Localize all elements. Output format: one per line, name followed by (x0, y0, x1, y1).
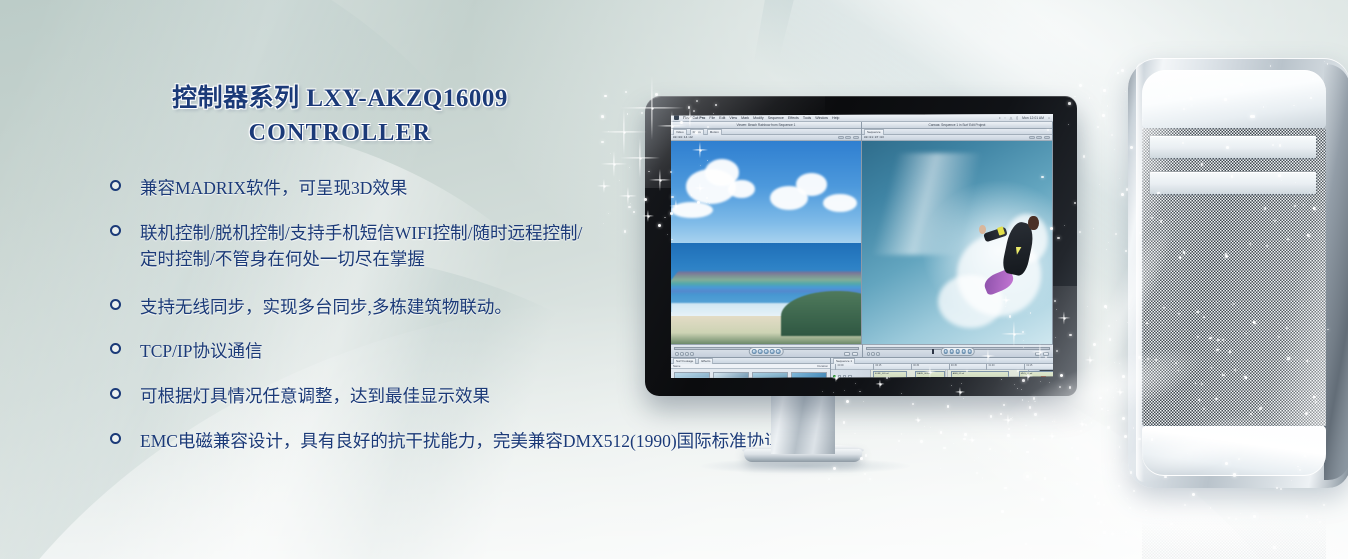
viewer-right-timecode[interactable]: 00:01:07:03 (864, 136, 884, 139)
transport-left-right-buttons[interactable] (844, 352, 858, 356)
tab-surf-footage[interactable]: Surf Footage (673, 358, 696, 364)
ruler-label: 01:00 (989, 364, 995, 367)
play-in-to-out-button[interactable] (758, 349, 763, 354)
optical-drive-slot-1[interactable] (1150, 136, 1316, 158)
tab-video[interactable]: Video (673, 129, 687, 135)
monitor-stand-neck (771, 392, 835, 454)
tab-motion[interactable]: Motion (707, 129, 722, 135)
ruler-label: 00:45 (951, 364, 957, 367)
in-point-button[interactable] (871, 352, 875, 356)
cloud (823, 194, 857, 212)
view-mode-button[interactable] (1043, 352, 1049, 356)
viewer-right-zoom-popup[interactable] (1029, 136, 1035, 139)
wifi-icon[interactable]: △ (1010, 116, 1013, 120)
viewer-right-view-popup[interactable] (1036, 136, 1042, 139)
play-in-to-out-button[interactable] (949, 349, 954, 354)
transport-bar-left[interactable] (671, 344, 862, 357)
menu-item-mark[interactable]: Mark (741, 115, 749, 119)
play-button[interactable] (955, 349, 960, 354)
menu-item-edit[interactable]: Edit (719, 115, 725, 119)
tab-filters[interactable]: Filters (690, 129, 704, 135)
column-duration: Duration (817, 364, 828, 368)
tower-bottom-panel (1142, 426, 1326, 476)
play-around-button[interactable] (770, 349, 775, 354)
ruler-label: 00:30 (913, 364, 919, 367)
menu-item-sequence[interactable]: Sequence (768, 115, 784, 119)
menu-item-modify[interactable]: Modify (753, 115, 764, 119)
timeline-playhead[interactable] (946, 370, 947, 378)
ruler-tick (835, 364, 836, 370)
generators-button[interactable] (852, 352, 858, 356)
viewer-left-timecode[interactable]: 00:00:14:22 (673, 136, 693, 139)
browser-thumbnail-grid[interactable]: SURF_001.mov00:12SURF_002.mov00:18WAVE_0… (671, 369, 830, 378)
beach-rainbow-clip (671, 141, 861, 344)
browser-clip-thumbnail[interactable]: SURF_001.mov00:12 (674, 372, 710, 378)
surfer-head (1028, 216, 1038, 231)
viewer-right-duration[interactable] (1044, 136, 1050, 139)
tower-reflection-mesh (1142, 506, 1326, 559)
playhead-marker[interactable] (932, 349, 934, 354)
ruler-label: 00:00 (838, 364, 844, 367)
bullet-ring-icon (110, 225, 121, 236)
page-title-en: CONTROLLER (0, 117, 680, 150)
browser-panel: Surf Footage Effects Name Duration SURF_… (671, 358, 831, 378)
banner-stage: 控制器系列 LXY-AKZQ16009 CONTROLLER 兼容MADRIX软… (0, 0, 1348, 559)
timeline-clip-name: SURF_001.aif (874, 372, 906, 376)
next-edit-button[interactable] (967, 349, 972, 354)
edit-overlay-button[interactable] (1035, 352, 1041, 356)
track-header-v2[interactable] (831, 370, 870, 378)
page-title-cn: 控制器系列 LXY-AKZQ16009 (0, 82, 680, 117)
tab-sequence[interactable]: Sequence (864, 129, 884, 135)
cloud (728, 180, 755, 198)
viewer-left-video[interactable] (671, 141, 861, 344)
browser-clip-thumbnail[interactable]: SURF_002.mov00:18 (713, 372, 749, 378)
viewer-left-title: Viewer: Beach Rainbow from Sequence 1 (737, 123, 796, 127)
column-name: Name (673, 364, 680, 368)
timeline-clip-name: AMB_02.aif (952, 372, 1008, 376)
bullet-ring-icon (110, 388, 121, 399)
surfer-hand (979, 225, 985, 234)
mac-pro-tower (1128, 58, 1348, 488)
menu-item-tools[interactable]: Tools (803, 115, 811, 119)
menu-item-view[interactable]: View (729, 115, 737, 119)
tower-top-panel (1142, 70, 1326, 128)
previous-edit-button[interactable] (943, 349, 948, 354)
clip-thumbnail-image (674, 372, 710, 378)
transport-right-right-buttons[interactable] (1035, 352, 1049, 356)
clip-thumbnail-image (713, 372, 749, 378)
menu-item-file[interactable]: File (709, 115, 715, 119)
bullet-ring-icon (110, 180, 121, 191)
in-point-button[interactable] (680, 352, 684, 356)
surfer-wave-clip (862, 141, 1052, 344)
bullet-ring-icon (110, 343, 121, 354)
menubar-clock[interactable]: Mon 12:01 AM (1022, 116, 1044, 120)
clip-thumbnail-image (752, 372, 788, 378)
play-around-button[interactable] (961, 349, 966, 354)
out-point-button[interactable] (685, 352, 689, 356)
viewer-right-title: Canvas: Sequence 1 in Surf Edit Project (929, 123, 986, 127)
bluetooth-icon[interactable]: • (999, 116, 1000, 120)
clip-thumbnail-image (791, 372, 827, 378)
transport-left-controls[interactable] (749, 347, 784, 355)
tower-side-face (1324, 64, 1348, 480)
lower-panes: Surf Footage Effects Name Duration SURF_… (671, 357, 1053, 378)
timeline-clip-name: MUS_01.aif (1020, 372, 1053, 376)
transport-bar-right[interactable] (863, 344, 1054, 357)
transport-left-small-buttons[interactable] (675, 352, 694, 356)
monitor-screen: Final Cut Pro File Edit View Mark Modify… (671, 114, 1053, 378)
tower-reflection (1128, 488, 1348, 559)
browser-clip-thumbnail[interactable]: BEACH_004.mov00:24 (791, 372, 827, 378)
transport-right-controls[interactable] (940, 347, 975, 355)
timeline-clip-name: WAVE_003.aif (916, 372, 944, 376)
viewer-right-titlebar[interactable]: Canvas: Sequence 1 in Surf Edit Project (862, 122, 1052, 129)
previous-edit-button[interactable] (752, 349, 757, 354)
spotlight-icon[interactable]: ○ (1048, 116, 1050, 120)
timeline-panel: Sequence 1 00:0000:1500:3000:4501:0001:1… (831, 358, 1053, 378)
marker-button[interactable] (867, 352, 871, 356)
viewer-row: Viewer: Beach Rainbow from Sequence 1 Vi… (671, 122, 1053, 344)
menu-item-window[interactable]: Window (815, 115, 828, 119)
viewer-pane-right: Canvas: Sequence 1 in Surf Edit Project … (862, 122, 1053, 344)
out-point-button[interactable] (876, 352, 880, 356)
tab-effects[interactable]: Effects (698, 358, 713, 364)
marker-button[interactable] (675, 352, 679, 356)
match-frame-button[interactable] (690, 352, 694, 356)
transport-right-small-buttons[interactable] (867, 352, 881, 356)
transport-left-wrap (671, 344, 862, 357)
optical-drive-slot-2[interactable] (1150, 172, 1316, 194)
tab-sequence-1[interactable]: Sequence 1 (833, 358, 855, 364)
apple-logo-icon[interactable] (674, 115, 679, 120)
viewer-pane-left: Viewer: Beach Rainbow from Sequence 1 Vi… (671, 122, 862, 344)
bullet-ring-icon (110, 433, 121, 444)
browser-clip-thumbnail[interactable]: WAVE_003.mov00:09 (752, 372, 788, 378)
timeline-clip[interactable]: SURF_001.aif (873, 371, 907, 378)
play-button[interactable] (764, 349, 769, 354)
viewer-right-video[interactable] (862, 141, 1052, 344)
recent-clips-button[interactable] (844, 352, 850, 356)
battery-icon[interactable]: ▯ (1016, 116, 1018, 120)
monitor-display: Final Cut Pro File Edit View Mark Modify… (645, 96, 1077, 396)
transport-right-wrap (862, 344, 1054, 357)
volume-icon[interactable]: ◦ (1004, 116, 1005, 120)
cloud (671, 202, 713, 218)
cloud (796, 173, 826, 195)
next-edit-button[interactable] (776, 349, 781, 354)
ruler-label: 01:15 (1026, 364, 1032, 367)
menu-item-effects[interactable]: Effects (788, 115, 799, 119)
ruler-label: 00:15 (875, 364, 881, 367)
viewer-left-view-popup[interactable] (845, 136, 851, 139)
tower-edge-highlight (1136, 62, 1144, 482)
bullet-ring-icon (110, 299, 121, 310)
timeline-track-gutter[interactable] (831, 370, 871, 378)
menu-item-help[interactable]: Help (832, 115, 839, 119)
menu-item-final-cut-pro[interactable]: Final Cut Pro (683, 115, 705, 119)
viewer-left-duration[interactable] (853, 136, 859, 139)
viewer-left-zoom-popup[interactable] (838, 136, 844, 139)
page-title: 控制器系列 LXY-AKZQ16009 CONTROLLER (0, 82, 680, 150)
